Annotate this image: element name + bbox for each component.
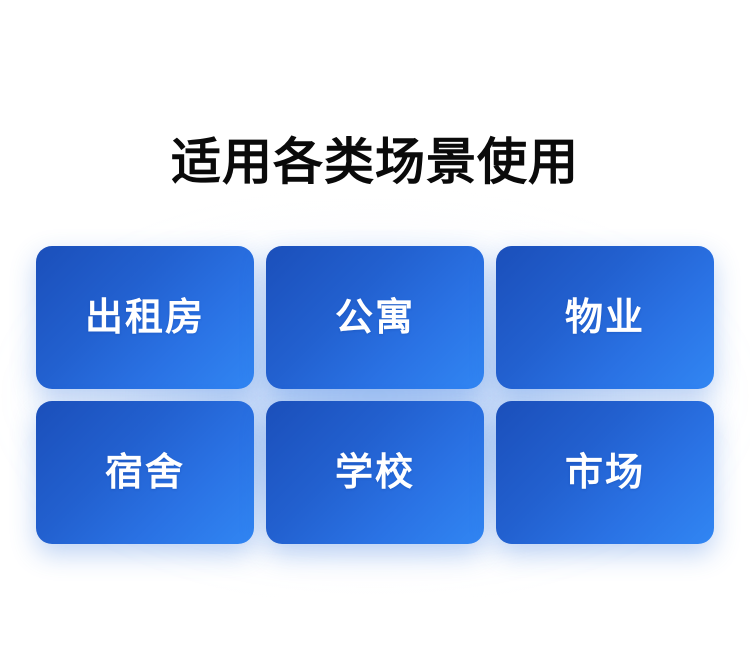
glow-top-fade [0,0,750,230]
scenario-tile-label: 市场 [565,450,645,496]
page-title: 适用各类场景使用 [0,130,750,194]
scenario-tile-market[interactable]: 市场 [496,401,714,544]
glow-bottom-fade [0,556,750,650]
scenario-tile-label: 公寓 [335,295,415,341]
scenario-tile-grid: 出租房 公寓 物业 宿舍 学校 市场 [36,246,714,544]
scenario-tile-apartment[interactable]: 公寓 [266,246,484,389]
scenario-showcase-page: 适用各类场景使用 出租房 公寓 物业 宿舍 学校 市场 [0,0,750,650]
scenario-tile-dormitory[interactable]: 宿舍 [36,401,254,544]
scenario-tile-label: 学校 [335,450,415,496]
scenario-tile-rental-room[interactable]: 出租房 [36,246,254,389]
scenario-tile-school[interactable]: 学校 [266,401,484,544]
scenario-tile-label: 宿舍 [105,450,185,496]
scenario-tile-property-management[interactable]: 物业 [496,246,714,389]
scenario-tile-label: 出租房 [85,295,205,341]
scenario-tile-label: 物业 [565,295,645,341]
